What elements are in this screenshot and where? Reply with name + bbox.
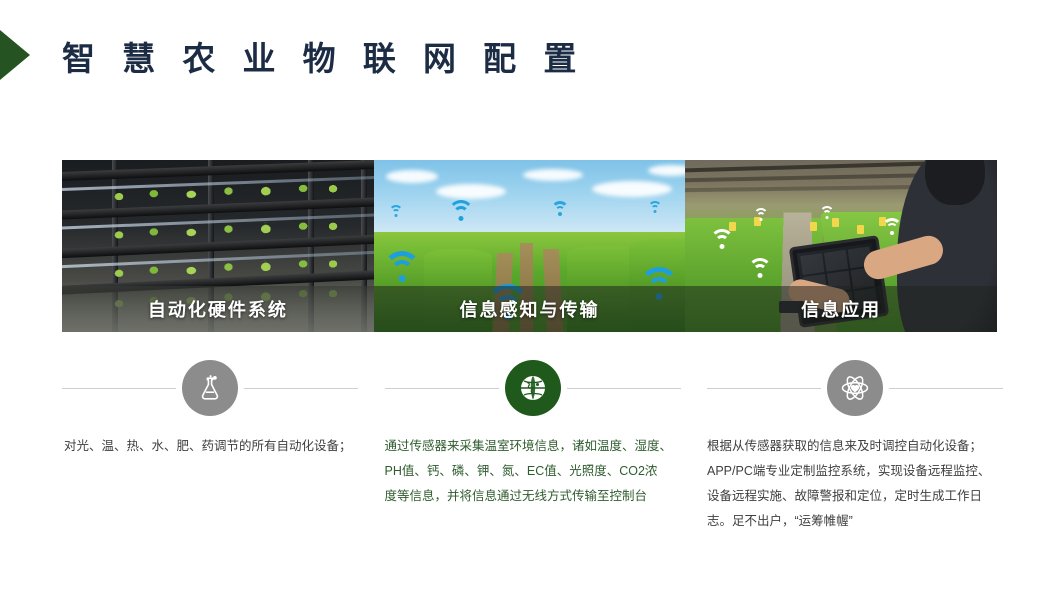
globe-icon xyxy=(505,360,561,416)
feature-text-line: 根据从传感器获取的信息来及时调控自动化设备； xyxy=(707,434,1003,459)
feature-text: 通过传感器来采集温室环境信息，诸如温度、湿度、 PH值、钙、磷、钾、氮、EC值、… xyxy=(385,434,681,509)
divider-right xyxy=(567,388,681,389)
slide-root: 智 慧 农 业 物 联 网 配 置 xyxy=(0,0,1058,595)
wifi-signal-icon xyxy=(748,258,772,278)
divider-right xyxy=(244,388,358,389)
card-caption: 信息应用 xyxy=(685,286,997,332)
feature-text: 根据从传感器获取的信息来及时调控自动化设备； APP/PC端专业定制监控系统，实… xyxy=(707,434,1003,534)
feature-header xyxy=(385,358,681,418)
divider-left xyxy=(62,388,176,389)
wifi-signal-icon xyxy=(648,201,662,213)
wifi-signal-icon xyxy=(389,205,403,217)
wifi-signal-icon xyxy=(551,201,569,216)
feature-column-application: 根据从传感器获取的信息来及时调控自动化设备； APP/PC端专业定制监控系统，实… xyxy=(707,358,1003,534)
card-caption-text: 信息应用 xyxy=(801,296,881,322)
wifi-signal-icon xyxy=(448,200,474,222)
feature-text-line: 通过传感器来采集温室环境信息，诸如温度、湿度、 xyxy=(385,434,681,459)
card-caption: 信息感知与传输 xyxy=(374,286,686,332)
divider-left xyxy=(707,388,821,389)
feature-text-line: 设备远程实施、故障警报和定位，定时生成工作日 xyxy=(707,484,1003,509)
feature-header xyxy=(62,358,358,418)
wifi-signal-icon xyxy=(819,206,834,219)
feature-text-line: 度等信息，并将信息通过无线方式传输至控制台 xyxy=(385,484,681,509)
image-card-information-application[interactable]: 信息应用 xyxy=(685,160,997,332)
divider-left xyxy=(385,388,499,389)
header: 智 慧 农 业 物 联 网 配 置 xyxy=(0,0,1058,110)
wifi-signal-icon xyxy=(754,208,769,221)
flask-icon xyxy=(182,360,238,416)
feature-text-line: APP/PC端专业定制监控系统，实现设备远程监控、 xyxy=(707,459,1003,484)
feature-column-automation: 对光、温、热、水、肥、药调节的所有自动化设备； xyxy=(62,358,358,534)
page-title: 智 慧 农 业 物 联 网 配 置 xyxy=(62,36,585,82)
feature-column-sensing: 通过传感器来采集温室环境信息，诸如温度、湿度、 PH值、钙、磷、钾、氮、EC值、… xyxy=(385,358,681,534)
card-caption: 自动化硬件系统 xyxy=(62,286,374,332)
atom-heart-icon xyxy=(827,360,883,416)
feature-header xyxy=(707,358,1003,418)
right-triangle-icon xyxy=(0,20,30,90)
image-card-automation-hardware[interactable]: 自动化硬件系统 xyxy=(62,160,374,332)
feature-text-line: 志。足不出户，“运筹帷幄” xyxy=(707,509,1003,534)
feature-text-line: 对光、温、热、水、肥、药调节的所有自动化设备； xyxy=(64,434,358,459)
card-caption-text: 信息感知与传输 xyxy=(460,296,600,322)
image-card-row: 自动化硬件系统 xyxy=(62,160,997,332)
feature-text: 对光、温、热、水、肥、药调节的所有自动化设备； xyxy=(62,434,358,459)
wifi-signal-icon xyxy=(710,229,734,249)
card-caption-text: 自动化硬件系统 xyxy=(148,296,288,322)
image-card-sensing-transmission[interactable]: 信息感知与传输 xyxy=(374,160,686,332)
feature-text-line: PH值、钙、磷、钾、氮、EC值、光照度、CO2浓 xyxy=(385,459,681,484)
wifi-signal-icon xyxy=(383,251,421,283)
divider-right xyxy=(889,388,1003,389)
feature-row: 对光、温、热、水、肥、药调节的所有自动化设备； xyxy=(62,358,1003,534)
